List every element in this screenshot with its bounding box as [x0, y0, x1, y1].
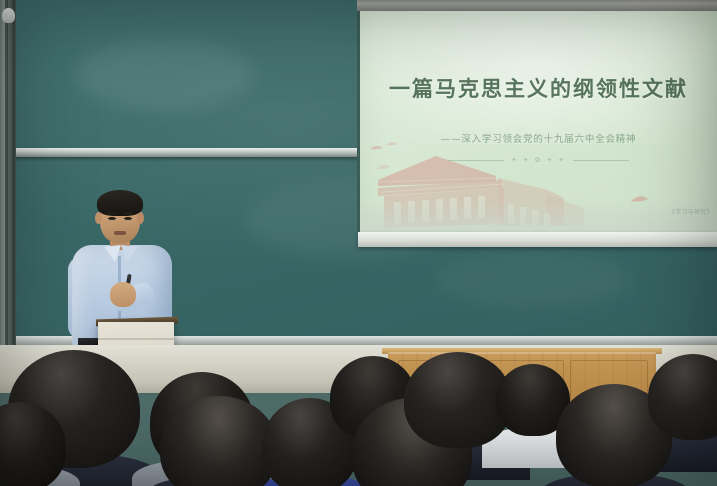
lecturer-mouth [114, 231, 126, 235]
lecturer-eyebrow-left [107, 212, 117, 215]
slide-ornament-divider: ✦ ✦ ✿ ✦ ✦ [360, 156, 717, 164]
chalk-smudge [74, 40, 254, 110]
slide-bottom-haze [360, 198, 717, 232]
lecturer-eye-right [124, 217, 132, 220]
lecturer-eye-left [108, 217, 116, 220]
slide-subtitle: ——深入学习领会党的十九届六中全会精神 [360, 131, 717, 145]
chalkboard-frame-left [0, 0, 16, 350]
lecturer-ear-right [137, 212, 144, 224]
lecturer-hand-gesturing [110, 282, 136, 307]
lecturer-hair [97, 190, 143, 216]
lecturer-eyebrow-right [123, 212, 133, 215]
classroom-lecture-photo: 一篇马克思主义的纲领性文献 ——深入学习领会党的十九届六中全会精神 ✦ ✦ ✿ … [0, 0, 717, 486]
student-ponytail [160, 396, 278, 486]
slide-title: 一篇马克思主义的纲领性文献 [360, 73, 717, 103]
projection-screen: 一篇马克思主义的纲领性文献 ——深入学习领会党的十九届六中全会精神 ✦ ✦ ✿ … [357, 0, 717, 247]
projection-screen-case [357, 0, 717, 11]
slide-watermark: 《学习与研究》 [669, 207, 713, 216]
student-edge-right [648, 354, 717, 440]
ornament-line-left [448, 160, 504, 161]
board-track-knob [2, 8, 15, 23]
audience [0, 336, 717, 486]
ornament-dots: ✦ ✦ ✿ ✦ ✦ [511, 156, 566, 164]
projection-screen-bottom-bar [358, 232, 717, 247]
ornament-line-right [573, 160, 629, 161]
lecturer-ear-left [95, 212, 102, 224]
chalk-smudge [434, 250, 634, 310]
projected-slide: 一篇马克思主义的纲领性文献 ——深入学习领会党的十九届六中全会精神 ✦ ✦ ✿ … [360, 11, 717, 232]
